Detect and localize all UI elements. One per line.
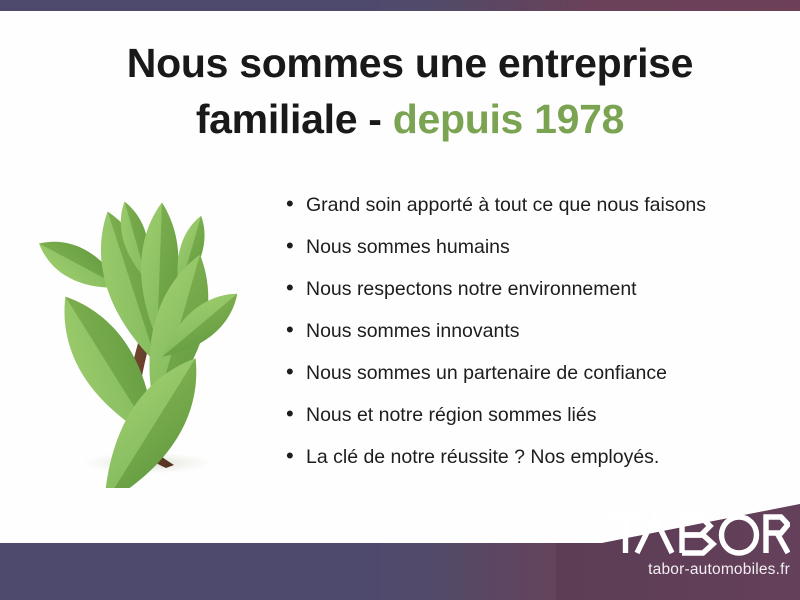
bullet-marker-icon: • — [286, 403, 306, 425]
tree-illustration — [14, 182, 276, 488]
list-item-label: Nous sommes humains — [306, 237, 510, 258]
bullet-marker-icon: • — [286, 445, 306, 467]
headline-highlight: depuis 1978 — [393, 96, 624, 142]
list-item-label: Nous sommes innovants — [306, 321, 520, 342]
list-item: • Nous respectons notre environnement — [286, 277, 786, 319]
list-item-label: Nous respectons notre environnement — [306, 279, 637, 300]
tree-icon — [14, 182, 276, 488]
bullet-marker-icon: • — [286, 277, 306, 299]
tabor-logo — [606, 512, 790, 556]
slide-canvas: Nous sommes une entreprise familiale - d… — [0, 0, 800, 600]
list-item: • Nous sommes innovants — [286, 319, 786, 361]
top-accent-bar — [0, 0, 800, 11]
bullet-marker-icon: • — [286, 235, 306, 257]
bullet-marker-icon: • — [286, 193, 306, 215]
list-item-label: La clé de notre réussite ? Nos employés. — [306, 447, 659, 468]
page-title: Nous sommes une entreprise familiale - d… — [60, 36, 760, 148]
list-item: • Grand soin apporté à tout ce que nous … — [286, 193, 786, 235]
bullet-marker-icon: • — [286, 361, 306, 383]
list-item-label: Nous et notre région sommes liés — [306, 405, 596, 426]
list-item: • Nous sommes un partenaire de confiance — [286, 361, 786, 403]
benefits-list: • Grand soin apporté à tout ce que nous … — [286, 193, 786, 487]
list-item: • Nous sommes humains — [286, 235, 786, 277]
list-item: • La clé de notre réussite ? Nos employé… — [286, 445, 786, 487]
list-item-label: Nous sommes un partenaire de confiance — [306, 363, 667, 384]
logo-tagline: tabor-automobiles.fr — [606, 561, 790, 579]
tabor-wordmark-icon — [606, 512, 790, 556]
list-item: • Nous et notre région sommes liés — [286, 403, 786, 445]
list-item-label: Grand soin apporté à tout ce que nous fa… — [306, 195, 706, 216]
bullet-marker-icon: • — [286, 319, 306, 341]
